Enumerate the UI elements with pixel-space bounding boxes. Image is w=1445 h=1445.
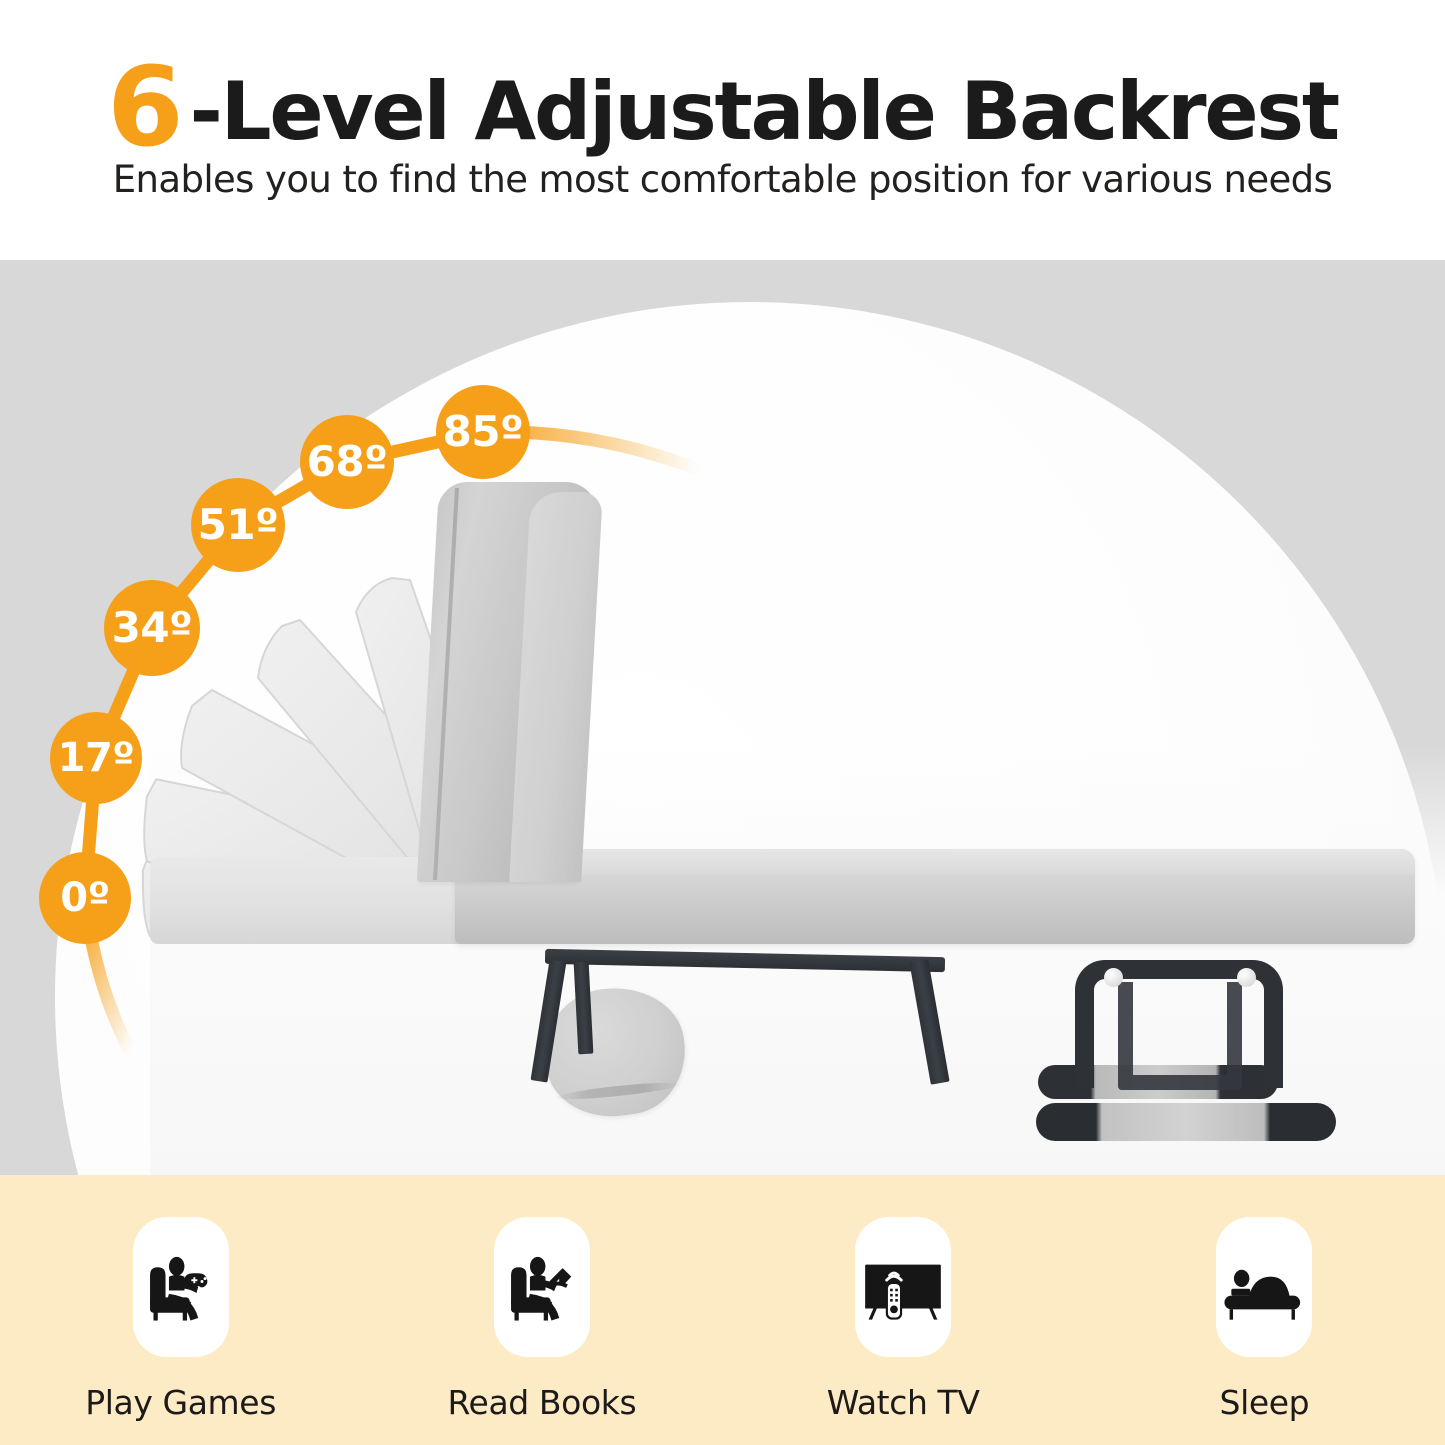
use-case-icon-card: [494, 1217, 590, 1357]
person-gaming-in-armchair-icon: [138, 1244, 224, 1330]
use-case-icon-card: [1216, 1217, 1312, 1357]
use-case-list: Play Games: [0, 1175, 1445, 1445]
use-case-watch-tv[interactable]: Watch TV: [753, 1217, 1053, 1422]
person-lying-on-bed-icon: [1221, 1244, 1307, 1330]
page-title: 6-Level Adjustable Backrest: [0, 52, 1445, 162]
use-case-play-games[interactable]: Play Games: [31, 1217, 331, 1422]
angle-badge-17[interactable]: 17º: [50, 712, 142, 804]
header-banner: 6-Level Adjustable Backrest Enables you …: [0, 0, 1445, 260]
angle-badge-0[interactable]: 0º: [39, 852, 131, 944]
use-case-label: Read Books: [448, 1383, 637, 1422]
use-case-label: Sleep: [1220, 1383, 1310, 1422]
title-text: -Level Adjustable Backrest: [190, 65, 1338, 158]
use-case-band: Play Games: [0, 1175, 1445, 1445]
use-case-icon-card: [133, 1217, 229, 1357]
use-case-label: Play Games: [85, 1383, 276, 1422]
angle-arc-path: [0, 260, 1445, 1175]
use-case-read-books[interactable]: Read Books: [392, 1217, 692, 1422]
angle-badge-34[interactable]: 34º: [104, 580, 200, 676]
product-stage: 0º 17º 34º 51º 68º 85º: [0, 260, 1445, 1175]
use-case-icon-card: [855, 1217, 951, 1357]
use-case-sleep[interactable]: Sleep: [1114, 1217, 1414, 1422]
angle-badge-51[interactable]: 51º: [191, 478, 285, 572]
angle-badge-85[interactable]: 85º: [436, 385, 530, 479]
use-case-label: Watch TV: [827, 1383, 980, 1422]
title-level-count: 6: [107, 43, 182, 171]
person-reading-book-in-armchair-icon: [499, 1244, 585, 1330]
angle-badge-68[interactable]: 68º: [300, 415, 394, 509]
page-subtitle: Enables you to find the most comfortable…: [0, 158, 1445, 201]
television-with-remote-icon: [860, 1244, 946, 1330]
